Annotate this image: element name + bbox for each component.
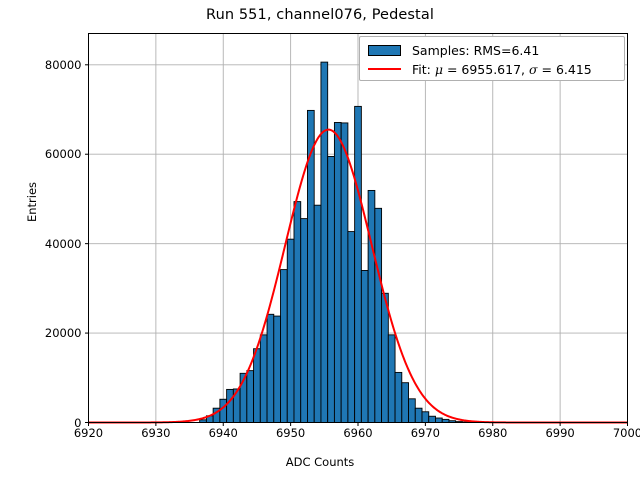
y-tick-label: 0 [0,416,82,430]
x-tick-label: 6930 [141,426,170,440]
histogram-bars [200,62,470,422]
x-tick-label: 6940 [209,426,238,440]
x-tick-label: 6950 [276,426,305,440]
legend-item-samples: Samples: RMS=6.41 [368,40,539,60]
y-tick-label: 60000 [0,147,82,161]
x-tick-label: 6980 [478,426,507,440]
x-tick-label: 6960 [343,426,372,440]
legend: Samples: RMS=6.41 Fit: μ = 6955.617, σ =… [359,36,625,81]
y-tick-label: 20000 [0,326,82,340]
legend-line-swatch-icon [368,68,401,70]
figure-canvas: Run 551, channel076, Pedestal Entries AD… [0,0,640,480]
legend-patch-swatch-icon [368,45,401,56]
x-tick-label: 6990 [545,426,574,440]
legend-label-fit: Fit: μ = 6955.617, σ = 6.415 [412,62,592,77]
y-tick-label: 40000 [0,237,82,251]
legend-item-fit: Fit: μ = 6955.617, σ = 6.415 [368,59,592,79]
legend-label-samples: Samples: RMS=6.41 [412,43,539,58]
x-tick-label: 6970 [411,426,440,440]
y-tick-label: 80000 [0,58,82,72]
x-tick-label: 7000 [613,426,640,440]
